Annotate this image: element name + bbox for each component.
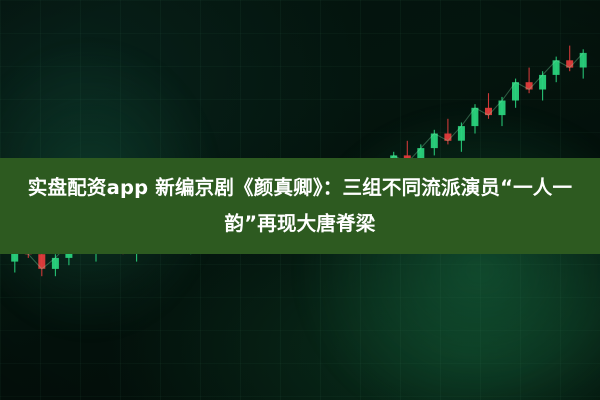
headline-text: 实盘配资app 新编京剧《颜真卿》：三组不同流派演员“一人一韵”再现大唐脊梁 [14,170,586,242]
headline-band: 实盘配资app 新编京剧《颜真卿》：三组不同流派演员“一人一韵”再现大唐脊梁 [0,158,600,254]
thumbnail-canvas: 实盘配资app 新编京剧《颜真卿》：三组不同流派演员“一人一韵”再现大唐脊梁 [0,0,600,400]
